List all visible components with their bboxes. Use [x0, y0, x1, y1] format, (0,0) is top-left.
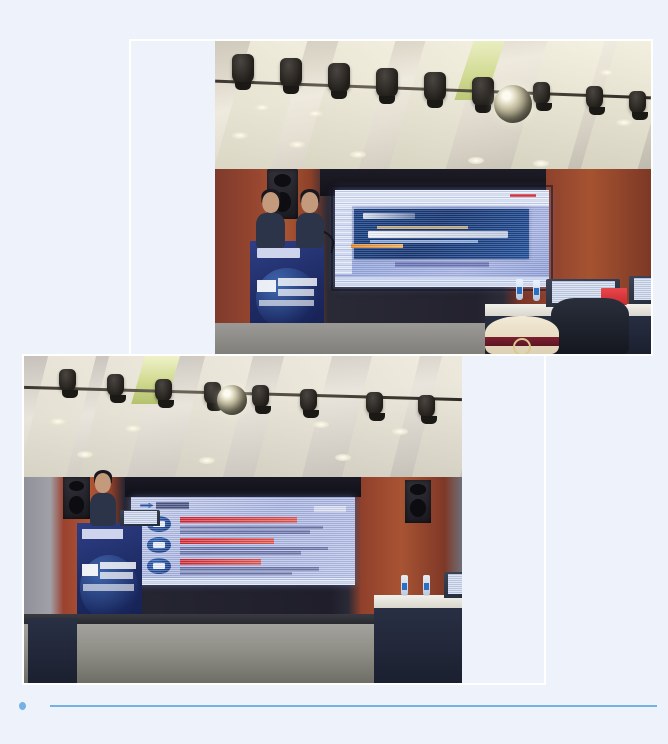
water-bottle — [516, 279, 523, 300]
photo-card-bottom-padding — [462, 356, 544, 683]
stage-spotlight-icon — [376, 68, 398, 98]
conference-photo-wide[interactable] — [24, 356, 462, 683]
stage-spotlight-icon — [418, 395, 435, 418]
stage-spotlight-icon — [533, 82, 550, 105]
photo-card-top[interactable] — [129, 39, 653, 356]
ceiling-surface — [24, 356, 462, 477]
laptop-right — [629, 276, 651, 304]
stage-spotlight-icon — [424, 72, 446, 102]
stage-spotlight-icon — [59, 369, 76, 392]
stage-spotlight-icon — [586, 86, 603, 109]
bullet-dot-icon — [19, 702, 26, 710]
stage-spotlight-icon — [252, 385, 269, 408]
page-canvas — [0, 0, 668, 744]
mirror-ball — [217, 385, 247, 415]
presenter — [90, 493, 116, 526]
stage-spotlight-icon — [366, 392, 383, 415]
presenter-left — [256, 213, 284, 247]
foreground-table — [374, 605, 462, 683]
side-table — [28, 618, 76, 683]
stage-spotlight-icon — [629, 91, 646, 114]
loudspeaker-right — [405, 480, 431, 523]
podium-laptop — [120, 510, 159, 526]
photo-card-bottom[interactable] — [22, 354, 546, 685]
foreground-laptop — [444, 572, 462, 598]
stage-spotlight-icon — [232, 54, 254, 84]
stage-spotlight-icon — [280, 58, 302, 88]
banquet-chair — [485, 316, 559, 354]
conference-photo-presenters[interactable] — [215, 41, 651, 354]
mirror-ball — [494, 85, 532, 123]
podium-year — [82, 564, 98, 576]
podium-year — [257, 280, 276, 292]
led-screen — [131, 497, 354, 585]
stage-spotlight-icon — [300, 389, 317, 412]
water-bottle — [423, 575, 430, 596]
stage-spotlight-icon — [472, 77, 494, 107]
led-screen-frame — [331, 185, 553, 291]
stage-valance — [125, 477, 362, 497]
stage-spotlight-icon — [328, 63, 350, 93]
horizontal-divider — [50, 705, 657, 707]
presenter-right — [296, 213, 324, 247]
water-bottle — [533, 280, 540, 301]
photo-card-top-padding — [131, 41, 215, 354]
stage-spotlight-icon — [155, 379, 172, 402]
seated-attendee — [551, 298, 629, 354]
water-bottle — [401, 575, 408, 596]
loudspeaker-left — [63, 477, 89, 520]
stage-spotlight-icon — [107, 374, 124, 397]
